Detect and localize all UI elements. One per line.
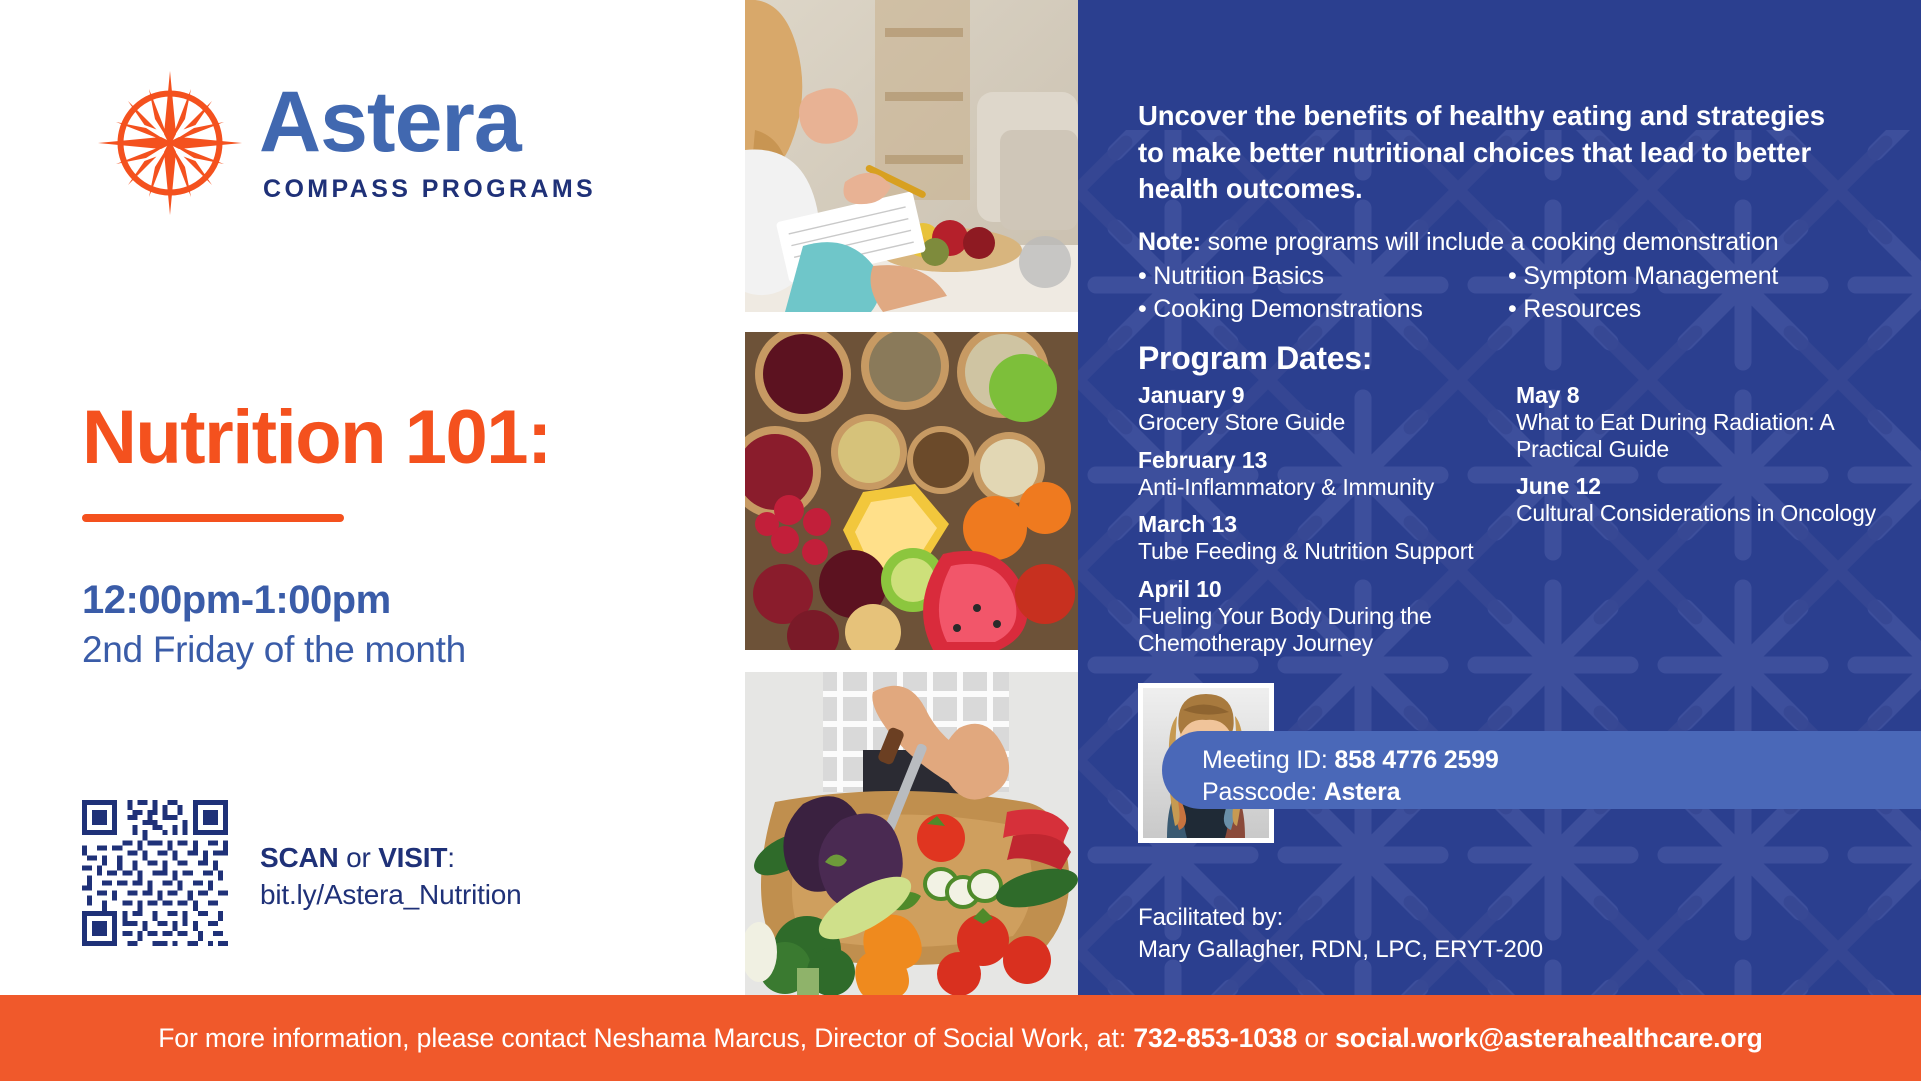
visit-word: VISIT [378, 842, 447, 873]
bullet-item: • Symptom Management [1508, 262, 1858, 291]
date-entry: May 8 What to Eat During Radiation: A Pr… [1516, 382, 1898, 462]
qr-block: SCAN or VISIT: bit.ly/Astera_Nutrition [82, 800, 522, 946]
chopping-vegetables-photo [745, 672, 1078, 995]
schedule-block: 12:00pm-1:00pm 2nd Friday of the month [82, 578, 466, 671]
meeting-credentials-box: Meeting ID: 858 4776 2599 Passcode: Aste… [1162, 731, 1921, 809]
date-entry: March 13 Tube Feeding & Nutrition Suppor… [1138, 511, 1516, 565]
title-block: Nutrition 101: [82, 400, 702, 522]
facilitator-block: Facilitated by: Mary Gallagher, RDN, LPC… [1138, 902, 1543, 966]
date-label: April 10 [1138, 576, 1516, 603]
footer-email[interactable]: social.work@asterahealthcare.org [1335, 1023, 1763, 1053]
scan-or-visit-label: SCAN or VISIT: [260, 842, 522, 874]
session-time: 12:00pm-1:00pm [82, 578, 466, 623]
contact-footer-bar: For more information, please contact Nes… [0, 995, 1921, 1081]
date-label: February 13 [1138, 447, 1516, 474]
panel-headline: Uncover the benefits of healthy eating a… [1138, 98, 1838, 208]
compass-rose-icon [95, 68, 245, 218]
footer-contact-text: For more information, please contact Nes… [158, 1023, 1763, 1054]
qr-code-icon[interactable] [82, 800, 228, 946]
date-description: What to Eat During Radiation: A Practica… [1516, 409, 1898, 462]
passcode-label: Passcode: [1202, 778, 1324, 806]
page-title: Nutrition 101: [82, 400, 702, 476]
date-description: Cultural Considerations in Oncology [1516, 500, 1898, 527]
date-description: Grocery Store Guide [1138, 409, 1516, 436]
dietitian-consultation-photo [745, 0, 1078, 312]
scan-word: SCAN [260, 842, 339, 873]
bullet-item: • Nutrition Basics [1138, 262, 1508, 291]
date-label: January 9 [1138, 382, 1516, 409]
qr-caption: SCAN or VISIT: bit.ly/Astera_Nutrition [260, 800, 522, 911]
facilitated-by-label: Facilitated by: [1138, 902, 1543, 934]
date-label: June 12 [1516, 473, 1898, 500]
photo-column [745, 0, 1078, 995]
brand-wordmark: Astera COMPASS PROGRAMS [259, 82, 596, 205]
healthy-foods-bowls-photo [745, 332, 1078, 650]
date-entry: February 13 Anti-Inflammatory & Immunity [1138, 447, 1516, 501]
footer-lead: For more information, please contact Nes… [158, 1023, 1133, 1053]
program-info-panel: Uncover the benefits of healthy eating a… [1078, 0, 1921, 995]
date-label: May 8 [1516, 382, 1898, 409]
colon: : [447, 842, 455, 873]
dates-column-left: January 9 Grocery Store Guide February 1… [1138, 382, 1516, 667]
note-line: Note: some programs will include a cooki… [1138, 228, 1858, 257]
program-dates-grid: January 9 Grocery Store Guide February 1… [1138, 382, 1898, 667]
topic-bullet-list: • Nutrition Basics • Symptom Management … [1138, 262, 1858, 324]
note-label: Note: [1138, 228, 1201, 256]
date-description: Anti-Inflammatory & Immunity [1138, 474, 1516, 501]
date-description: Tube Feeding & Nutrition Support [1138, 538, 1516, 565]
registration-url[interactable]: bit.ly/Astera_Nutrition [260, 879, 522, 911]
date-entry: April 10 Fueling Your Body During the Ch… [1138, 576, 1516, 656]
meeting-id-label: Meeting ID: [1202, 746, 1334, 774]
panel-content: Uncover the benefits of healthy eating a… [1138, 0, 1921, 995]
footer-phone[interactable]: 732-853-1038 [1133, 1023, 1297, 1053]
date-entry: January 9 Grocery Store Guide [1138, 382, 1516, 436]
date-label: March 13 [1138, 511, 1516, 538]
date-entry: June 12 Cultural Considerations in Oncol… [1516, 473, 1898, 527]
bullet-item: • Cooking Demonstrations [1138, 295, 1508, 324]
title-divider [82, 514, 344, 522]
bullet-item: • Resources [1508, 295, 1858, 324]
passcode-value: Astera [1324, 778, 1401, 806]
brand-logo: Astera COMPASS PROGRAMS [95, 68, 596, 218]
brand-tagline: COMPASS PROGRAMS [263, 175, 596, 204]
session-frequency: 2nd Friday of the month [82, 629, 466, 671]
meeting-id-line: Meeting ID: 858 4776 2599 [1202, 745, 1921, 777]
facilitator-name: Mary Gallagher, RDN, LPC, ERYT-200 [1138, 934, 1543, 966]
dates-column-right: May 8 What to Eat During Radiation: A Pr… [1516, 382, 1898, 667]
passcode-line: Passcode: Astera [1202, 777, 1921, 809]
brand-name: Astera [259, 82, 596, 164]
footer-conjunction: or [1297, 1023, 1335, 1053]
note-text: some programs will include a cooking dem… [1201, 228, 1779, 256]
program-dates-heading: Program Dates: [1138, 340, 1372, 377]
or-word: or [339, 842, 379, 873]
meeting-id-value: 858 4776 2599 [1334, 746, 1498, 774]
date-description: Fueling Your Body During the Chemotherap… [1138, 603, 1516, 656]
left-content-column: Astera COMPASS PROGRAMS Nutrition 101: 1… [0, 0, 745, 995]
